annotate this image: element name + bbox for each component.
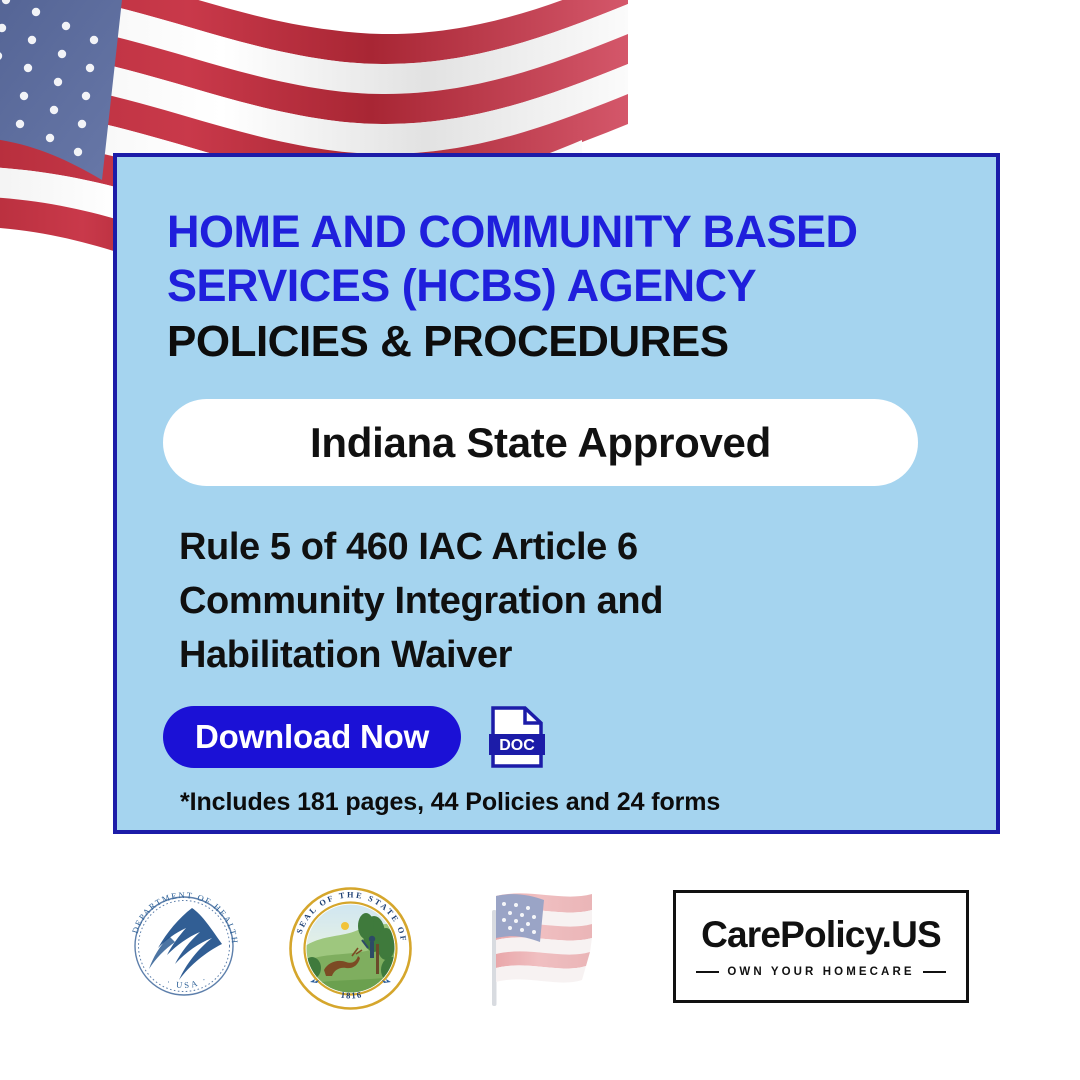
- description-line-2: Community Integration and: [179, 574, 956, 628]
- headline-line-3: POLICIES & PROCEDURES: [167, 315, 956, 369]
- svg-text:· USA ·: · USA ·: [165, 973, 210, 990]
- cta-row: Download Now DOC: [163, 706, 956, 768]
- description-block: Rule 5 of 460 IAC Article 6 Community In…: [179, 520, 956, 682]
- state-approval-badge: Indiana State Approved: [163, 399, 918, 486]
- tagline-rule-left: [696, 971, 719, 973]
- doc-file-icon: DOC: [489, 706, 545, 768]
- poster-canvas: HOME AND COMMUNITY BASED SERVICES (HCBS)…: [0, 0, 1080, 1080]
- state-approval-badge-label: Indiana State Approved: [310, 419, 771, 467]
- headline-line-1: HOME AND COMMUNITY BASED: [167, 205, 956, 259]
- page-title: HOME AND COMMUNITY BASED SERVICES (HCBS)…: [167, 205, 956, 369]
- footer-logo-strip: DEPARTMENT OF HEALTH & HUMAN SERVICES · …: [0, 872, 1080, 1032]
- tagline-rule-right: [923, 971, 946, 973]
- description-line-1: Rule 5 of 460 IAC Article 6: [179, 520, 956, 574]
- us-flag-on-pole-icon: [470, 880, 600, 1010]
- brand-name: CarePolicy.US: [701, 915, 941, 955]
- brand-tagline-row: OWN YOUR HOMECARE: [696, 966, 945, 978]
- indiana-state-seal-icon: SEAL OF THE STATE OF INDIANA 1816: [288, 886, 413, 1011]
- carepolicy-brand-logo: CarePolicy.US OWN YOUR HOMECARE: [673, 890, 969, 1003]
- offer-card: HOME AND COMMUNITY BASED SERVICES (HCBS)…: [113, 153, 1000, 834]
- inclusions-note: *Includes 181 pages, 44 Policies and 24 …: [180, 788, 956, 817]
- hhs-seal-icon: DEPARTMENT OF HEALTH & HUMAN SERVICES · …: [122, 884, 246, 1008]
- description-line-3: Habilitation Waiver: [179, 628, 956, 682]
- headline-line-2: SERVICES (HCBS) AGENCY: [167, 259, 956, 313]
- svg-text:DOC: DOC: [499, 737, 535, 754]
- download-now-button[interactable]: Download Now: [163, 706, 461, 768]
- svg-text:1816: 1816: [340, 989, 363, 1000]
- brand-tagline: OWN YOUR HOMECARE: [727, 966, 914, 978]
